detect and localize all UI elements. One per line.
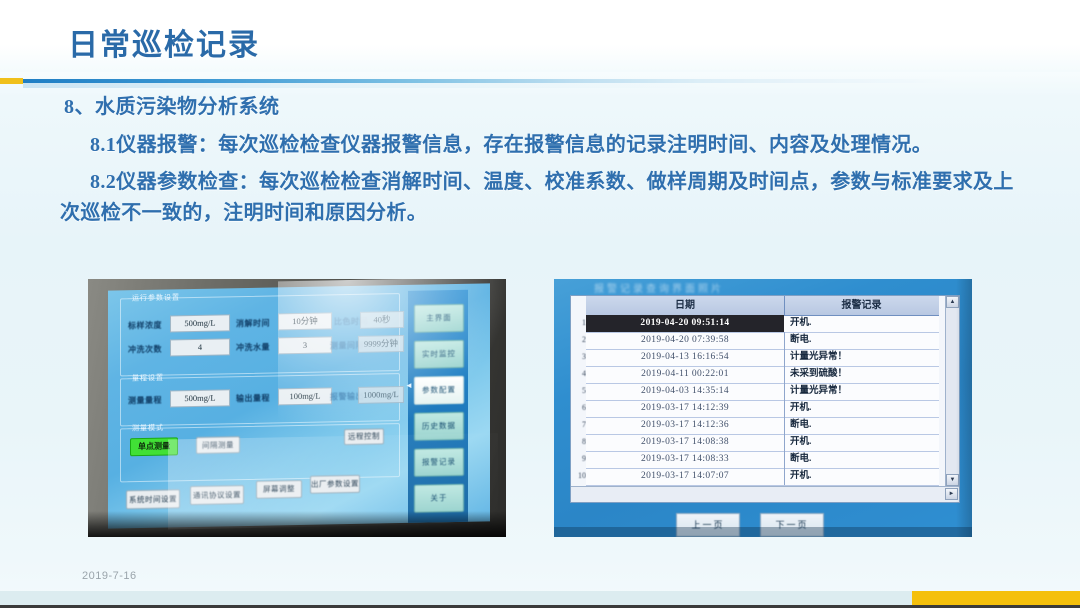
cell-record: 开机. (784, 434, 939, 451)
header-divider-soft-glow (23, 83, 723, 88)
row-number: 6 (571, 403, 586, 412)
field-value-rinse-count[interactable]: 4 (170, 338, 230, 356)
header-divider-gold-cap (0, 78, 23, 84)
group-run-params-label: 运行参数设置 (132, 292, 180, 303)
page-title: 日常巡检记录 (68, 20, 260, 64)
row-number: 4 (571, 369, 586, 378)
field-value-measure-range[interactable]: 500mg/L (170, 389, 230, 407)
alarm-table-header: 日期 报警记录 (586, 296, 939, 316)
alarm-screen-caption: 报警记录查询界面照片 (594, 280, 934, 294)
cell-record: 断电. (784, 451, 939, 468)
cell-record: 开机. (784, 400, 939, 417)
field-label-measure-range: 测量量程 (128, 395, 162, 407)
field-value-alarm-output[interactable]: 1000mg/L (358, 386, 404, 404)
header-divider (0, 78, 1080, 84)
table-row[interactable]: 2019-03-17 14:12:39 开机. (586, 400, 939, 418)
photo-right-edge-shadow (956, 279, 972, 537)
sidebar-item-params[interactable]: 参数配置 (414, 376, 464, 405)
field-value-color-time[interactable]: 40秒 (360, 311, 404, 329)
group-measure-mode-label: 测量模式 (132, 423, 164, 434)
field-label-output-range: 输出量程 (236, 393, 270, 405)
table-row[interactable]: 2019-03-17 14:07:07 开机. (586, 468, 939, 486)
cell-date: 2019-03-17 14:12:36 (586, 417, 785, 434)
slide-root: 日常巡检记录 8、水质污染物分析系统 8.1仪器报警：每次巡检检查仪器报警信息，… (0, 0, 1080, 608)
cell-date: 2019-03-17 14:12:39 (586, 400, 785, 417)
cell-date: 2019-03-17 14:08:33 (586, 451, 785, 468)
sidebar-collapse-icon[interactable]: ◄ (405, 381, 413, 390)
field-value-measure-interval[interactable]: 9999分钟 (358, 335, 404, 353)
table-row[interactable]: 2019-04-20 09:51:14 开机. (586, 315, 939, 333)
mode-button-interval[interactable]: 间隔测量 (196, 436, 240, 454)
table-row[interactable]: 2019-03-17 14:08:38 开机. (586, 434, 939, 452)
sidebar-item-about[interactable]: 关于 (414, 484, 464, 513)
sidebar-item-history[interactable]: 历史数据 (414, 412, 464, 441)
cell-record: 开机. (784, 315, 939, 332)
sidebar-item-realtime[interactable]: 实时监控 (414, 340, 464, 369)
row-number: 1 (571, 318, 586, 327)
cell-record: 计量光异常！ (784, 349, 939, 366)
paragraph-8-1: 8.1仪器报警：每次巡检检查仪器报警信息，存在报警信息的记录注明时间、内容及处理… (60, 130, 1020, 161)
field-label-digest-time: 消解时间 (236, 318, 270, 330)
row-number: 10 (571, 471, 586, 480)
row-number: 5 (571, 386, 586, 395)
nav-sidebar: 主界面 实时监控 参数配置 历史数据 报警记录 关于 (408, 290, 468, 523)
cell-record: 未采到硫酸！ (784, 366, 939, 383)
cell-date: 2019-04-20 07:39:58 (586, 332, 785, 349)
row-number: 3 (571, 352, 586, 361)
field-label-rinse-volume: 冲洗水量 (236, 342, 270, 354)
table-row[interactable]: 2019-03-17 14:12:36 断电. (586, 417, 939, 435)
field-value-digest-time[interactable]: 10分钟 (278, 312, 332, 330)
bottom-button-comm-protocol[interactable]: 通讯协议设置 (190, 485, 244, 505)
column-header-date: 日期 (586, 296, 785, 315)
photo-left-bottom-shadow (88, 511, 506, 537)
photo-alarm-records: 报警记录查询界面照片 1 2 3 4 5 6 7 8 9 10 日期 报警记录 … (554, 279, 972, 537)
cell-date: 2019-04-11 00:22:01 (586, 366, 785, 383)
row-number: 8 (571, 437, 586, 446)
row-number: 7 (571, 420, 586, 429)
mode-button-single-point[interactable]: 单点测量 (130, 437, 178, 456)
field-label-rinse-count: 冲洗次数 (128, 344, 162, 356)
table-row[interactable]: 2019-04-03 14:35:14 计量光异常！ (586, 383, 939, 401)
table-row[interactable]: 2019-04-11 00:22:01 未采到硫酸！ (586, 366, 939, 384)
cell-date: 2019-04-20 09:51:14 (586, 315, 784, 332)
photo-right-bottom-shadow (554, 527, 972, 537)
section-heading: 8、水质污染物分析系统 (64, 92, 1020, 122)
sidebar-item-alarm[interactable]: 报警记录 (414, 448, 464, 477)
mode-button-remote[interactable]: 远程控制 (344, 428, 384, 445)
horizontal-scrollbar[interactable]: ► (571, 486, 959, 502)
alarm-table: 日期 报警记录 2019-04-20 09:51:14 开机. 2019-04-… (586, 296, 939, 502)
sidebar-item-main[interactable]: 主界面 (414, 304, 464, 333)
cell-date: 2019-04-13 16:16:54 (586, 349, 785, 366)
cell-record: 计量光异常！ (784, 383, 939, 400)
paragraph-8-2: 8.2仪器参数检查：每次巡检检查消解时间、温度、校准系数、做样周期及时间点，参数… (60, 167, 1020, 229)
bottom-button-factory-params[interactable]: 出厂参数设置 (310, 475, 360, 494)
field-value-sample-conc[interactable]: 500mg/L (170, 314, 230, 332)
cell-record: 断电. (784, 417, 939, 434)
field-label-sample-conc: 标样浓度 (128, 320, 162, 332)
cell-record: 断电. (784, 332, 939, 349)
cell-date: 2019-04-03 14:35:14 (586, 383, 785, 400)
cell-date: 2019-03-17 14:08:38 (586, 434, 785, 451)
table-row[interactable]: 2019-03-17 14:08:33 断电. (586, 451, 939, 469)
group-run-params (120, 293, 400, 376)
cell-date: 2019-03-17 14:07:07 (586, 468, 785, 485)
field-value-rinse-volume[interactable]: 3 (278, 336, 332, 354)
field-value-output-range[interactable]: 100mg/L (278, 387, 332, 405)
column-header-record: 报警记录 (784, 296, 939, 315)
alarm-table-panel: 1 2 3 4 5 6 7 8 9 10 日期 报警记录 2019-04-20 … (570, 295, 960, 503)
footer-gold-accent (912, 591, 1080, 605)
group-range-label: 量程设置 (132, 373, 164, 384)
row-number: 2 (571, 335, 586, 344)
row-number: 9 (571, 454, 586, 463)
slide-body: 8、水质污染物分析系统 8.1仪器报警：每次巡检检查仪器报警信息，存在报警信息的… (60, 92, 1020, 235)
cell-record: 开机. (784, 468, 939, 485)
footer-date: 2019-7-16 (82, 570, 137, 582)
table-row[interactable]: 2019-04-13 16:16:54 计量光异常！ (586, 349, 939, 367)
instrument-screen: 运行参数设置 标样浓度 500mg/L 消解时间 10分钟 比色时间 40秒 冲… (108, 283, 490, 528)
bottom-button-system-time[interactable]: 系统时间设置 (126, 489, 180, 509)
bottom-button-screen-adjust[interactable]: 屏幕调整 (256, 480, 302, 499)
table-row[interactable]: 2019-04-20 07:39:58 断电. (586, 332, 939, 350)
photo-instrument-parameters: 运行参数设置 标样浓度 500mg/L 消解时间 10分钟 比色时间 40秒 冲… (88, 279, 506, 537)
